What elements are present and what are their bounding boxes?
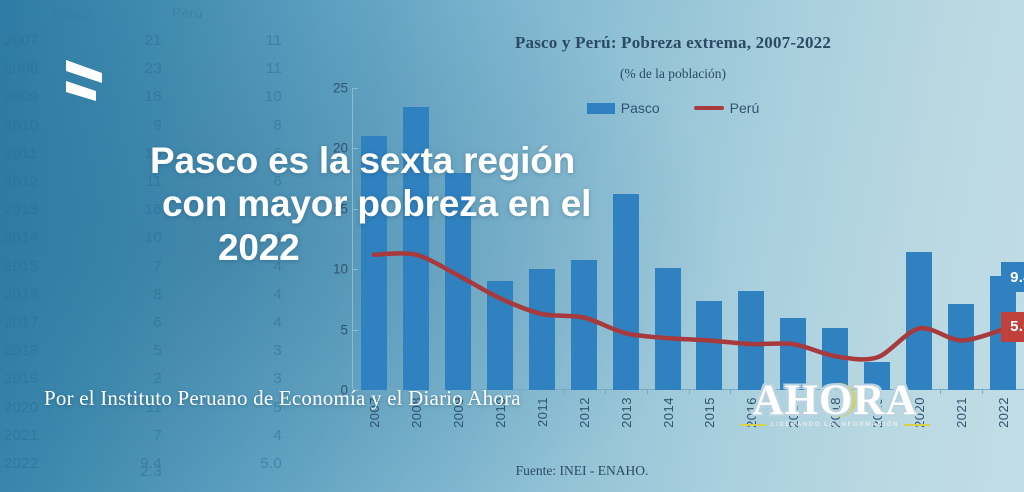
background-table-row: 201764 <box>0 309 300 337</box>
headline: Pasco es la sexta región con mayor pobre… <box>150 139 690 269</box>
headline-line-1: Pasco es la sexta región <box>150 139 690 182</box>
background-table-header-pasco: Pasco <box>52 5 92 21</box>
bar-pasco-2012 <box>571 260 597 390</box>
background-table-pasco-value: 18 <box>120 83 162 111</box>
background-table-header-peru: Perú <box>172 5 203 21</box>
bar-pasco-2020 <box>906 252 932 390</box>
data-label-pasco-2022: 9.4 <box>1001 262 1024 292</box>
background-table-peru-value: 11 <box>240 55 282 83</box>
background-table-pasco-value: 21 <box>120 27 162 55</box>
x-axis-tick-mark <box>940 389 941 394</box>
background-table-year: 2013 <box>4 196 64 224</box>
background-table-row: 20091810 <box>0 83 300 111</box>
byline: Por el Instituto Peruano de Economía y e… <box>44 386 744 411</box>
background-table-peru-value: 4 <box>240 309 282 337</box>
background-table-row: 202174 <box>0 422 300 450</box>
chart-source-note: Fuente: INEI - ENAHO. <box>322 463 842 479</box>
y-axis-tick-label: 5 <box>322 322 348 337</box>
background-table-peru-value: 8 <box>240 112 282 140</box>
ipe-chevron-logo <box>62 57 118 105</box>
background-table-peru-value: 10 <box>240 83 282 111</box>
background-table-pasco-value: 6 <box>120 309 162 337</box>
background-table-pasco-value: 5 <box>120 337 162 365</box>
data-label-peru-2022: 5.0 <box>1001 312 1024 342</box>
background-table-pasco-value: 9 <box>120 112 162 140</box>
x-axis-tick-mark <box>982 389 983 394</box>
background-table-peru-value: 4 <box>240 281 282 309</box>
background-table-year: 2017 <box>4 309 64 337</box>
background-table-year: 2012 <box>4 168 64 196</box>
x-axis-label-2021: 2021 <box>954 397 969 428</box>
background-table-pasco-value: 23 <box>120 55 162 83</box>
background-table-year: 2018 <box>4 337 64 365</box>
background-table-pasco-value: 7 <box>120 422 162 450</box>
background-table-row: 20082311 <box>0 55 300 83</box>
background-table-pasco-value: 8 <box>120 281 162 309</box>
chart-subtitle: (% de la población) <box>322 66 1024 82</box>
bar-pasco-2011 <box>529 269 555 390</box>
ahora-logo: AHORA LIDERANDO LA INFORMACIÓN <box>740 381 930 435</box>
background-table-year: 2015 <box>4 253 64 281</box>
background-table-year: 2022 <box>4 450 64 478</box>
background-table-year: 2009 <box>4 83 64 111</box>
background-table-peru-value: 3 <box>240 337 282 365</box>
background-table-extra-value: 2.3 <box>120 458 162 486</box>
ahora-rule-right-icon <box>904 424 930 426</box>
background-table-row: 201098 <box>0 112 300 140</box>
chart-title: Pasco y Perú: Pobreza extrema, 2007-2022 <box>322 33 1024 53</box>
background-table-row: 201684 <box>0 281 300 309</box>
background-table-peru-value: 5.0 <box>240 450 282 478</box>
bar-pasco-2021 <box>948 304 974 390</box>
bar-pasco-2014 <box>655 268 681 390</box>
background-table-year: 2014 <box>4 224 64 252</box>
background-table-header: Pasco Perú <box>0 5 330 27</box>
ahora-tagline: LIDERANDO LA INFORMACIÓN <box>770 422 900 428</box>
background-table-year: 2010 <box>4 112 64 140</box>
background-table-year: 2011 <box>4 140 64 168</box>
background-table-year: 2008 <box>4 55 64 83</box>
bar-pasco-2015 <box>696 301 722 390</box>
bar-pasco-2016 <box>738 291 764 390</box>
background-table-peru-value: 11 <box>240 27 282 55</box>
background-table-year: 2021 <box>4 422 64 450</box>
y-axis-tick-label: 25 <box>322 81 348 96</box>
headline-line-3: 2022 <box>150 226 690 269</box>
background-table-row: 201853 <box>0 337 300 365</box>
background-table-year: 2016 <box>4 281 64 309</box>
ahora-rule-left-icon <box>740 424 766 426</box>
background-table-row: 20072111 <box>0 27 300 55</box>
ahora-wordmark: AHORA <box>740 381 930 421</box>
x-axis-label-2022: 2022 <box>996 397 1011 428</box>
background-table-year: 2007 <box>4 27 64 55</box>
bar-pasco-2010 <box>487 281 513 390</box>
headline-line-2: con mayor pobreza en el <box>150 182 690 225</box>
background-table-peru-value: 4 <box>240 422 282 450</box>
ahora-tagline-row: LIDERANDO LA INFORMACIÓN <box>740 422 930 428</box>
